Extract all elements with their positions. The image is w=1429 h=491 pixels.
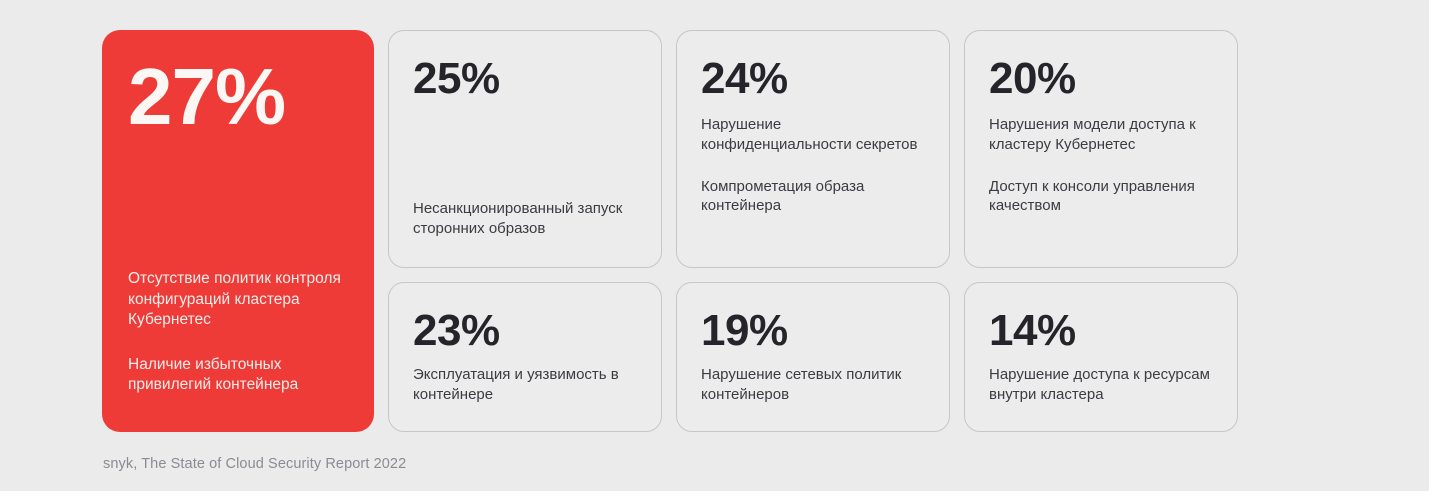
- stat-value: 25%: [413, 57, 637, 101]
- stat-card: 25% Несанкционированный запуск сторонних…: [388, 30, 662, 268]
- stat-card: 24% Нарушение конфиденциальности секрето…: [676, 30, 950, 268]
- hero-stat-value: 27%: [128, 60, 348, 134]
- stat-labels: Нарушения модели доступа к кластеру Кубе…: [989, 115, 1213, 216]
- stat-label: Нарушения модели доступа к кластеру Кубе…: [989, 115, 1213, 155]
- stats-board: 27% Отсутствие политик контроля конфигур…: [102, 30, 1238, 432]
- infographic-page: { "theme": { "accent": "#EE3B38", "page_…: [0, 0, 1429, 491]
- stat-label: Нарушение сетевых политик контейнеров: [701, 365, 925, 405]
- stat-card: 20% Нарушения модели доступа к кластеру …: [964, 30, 1238, 268]
- stat-labels: Нарушение конфиденциальности секретов Ко…: [701, 115, 925, 216]
- stat-card: 14% Нарушение доступа к ресурсам внутри …: [964, 282, 1238, 432]
- stat-card: 19% Нарушение сетевых политик контейнеро…: [676, 282, 950, 432]
- stat-value: 23%: [413, 309, 637, 353]
- stat-value: 20%: [989, 57, 1213, 101]
- stat-label: Нарушение доступа к ресурсам внутри клас…: [989, 365, 1213, 405]
- stat-label: Компрометация образа контейнера: [701, 177, 925, 217]
- stat-labels: Нарушение сетевых политик контейнеров: [701, 365, 925, 405]
- stat-value: 24%: [701, 57, 925, 101]
- stat-labels: Эксплуатация и уязвимость в контейнере: [413, 365, 637, 405]
- stat-labels: Нарушение доступа к ресурсам внутри клас…: [989, 365, 1213, 405]
- stat-label: Эксплуатация и уязвимость в контейнере: [413, 365, 637, 405]
- stat-value: 14%: [989, 309, 1213, 353]
- stat-label: Нарушение конфиденциальности секретов: [701, 115, 925, 155]
- hero-stat-labels: Отсутствие политик контроля конфигураций…: [128, 269, 348, 406]
- stat-label: Несанкционированный запуск сторонних обр…: [413, 199, 637, 239]
- stat-card-grid: 25% Несанкционированный запуск сторонних…: [388, 30, 1238, 432]
- stat-labels: Несанкционированный запуск сторонних обр…: [413, 199, 637, 247]
- hero-stat-card: 27% Отсутствие политик контроля конфигур…: [102, 30, 374, 432]
- stat-card: 23% Эксплуатация и уязвимость в контейне…: [388, 282, 662, 432]
- hero-stat-label: Отсутствие политик контроля конфигураций…: [128, 269, 348, 331]
- hero-stat-label: Наличие избыточных привилегий контейнера: [128, 355, 348, 396]
- stat-label: Доступ к консоли управления качеством: [989, 177, 1213, 217]
- hero-spacer: [128, 134, 348, 269]
- stat-value: 19%: [701, 309, 925, 353]
- source-caption: snyk, The State of Cloud Security Report…: [103, 456, 406, 472]
